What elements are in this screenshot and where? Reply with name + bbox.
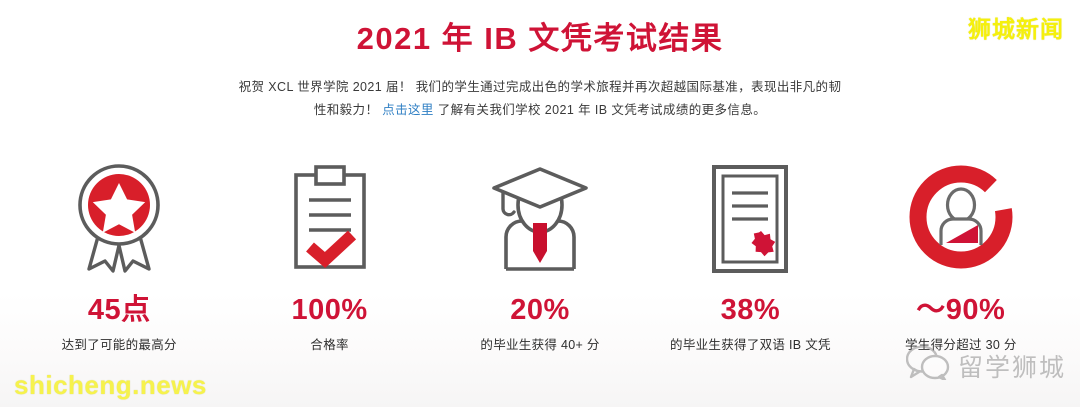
graduate-icon [482, 160, 598, 278]
stat-value: 20% [510, 296, 570, 325]
diploma-certificate-icon [704, 160, 796, 278]
header: 2021 年 IB 文凭考试结果 祝贺 XCL 世界学院 2021 届！ 我们的… [0, 0, 1080, 122]
stat-caption: 的毕业生获得 40+ 分 [480, 334, 599, 353]
intro-text-after: 了解有关我们学校 2021 年 IB 文凭考试成绩的更多信息。 [434, 103, 766, 117]
stat-item-45-points: 45点 达到了可能的最高分 [14, 160, 224, 353]
stat-item-pass-rate: 100% 合格率 [224, 160, 434, 353]
stat-item-40-plus: 20% 的毕业生获得 40+ 分 [435, 160, 645, 353]
stat-item-bilingual-diploma: 38% 的毕业生获得了双语 IB 文凭 [645, 160, 855, 353]
more-info-link[interactable]: 点击这里 [382, 103, 434, 117]
watermark-bottom-left: shicheng.news [14, 370, 207, 401]
stats-row: 45点 达到了可能的最高分 100% 合格率 [0, 160, 1080, 353]
stat-caption: 达到了可能的最高分 [62, 334, 177, 353]
clipboard-check-icon [282, 160, 378, 278]
infographic-page: 2021 年 IB 文凭考试结果 祝贺 XCL 世界学院 2021 届！ 我们的… [0, 0, 1080, 407]
stat-value: 45点 [88, 296, 151, 325]
stat-value: 〜90% [916, 296, 1005, 325]
watermark-label: 留学狮城 [958, 348, 1066, 384]
stat-value: 38% [721, 296, 781, 325]
watermark-top-right: 狮城新闻 [968, 10, 1064, 44]
stat-value: 100% [292, 296, 368, 325]
stat-caption: 的毕业生获得了双语 IB 文凭 [670, 334, 831, 353]
page-title: 2021 年 IB 文凭考试结果 [0, 22, 1080, 56]
award-ribbon-icon [65, 160, 173, 278]
donut-person-icon [905, 160, 1017, 278]
stat-item-above-30: 〜90% 学生得分超过 30 分 [856, 160, 1066, 353]
wechat-icon [906, 346, 950, 385]
watermark-bottom-right: 留学狮城 [906, 346, 1066, 385]
intro-paragraph: 祝贺 XCL 世界学院 2021 届！ 我们的学生通过完成出色的学术旅程并再次超… [235, 76, 845, 122]
stat-caption: 合格率 [310, 334, 348, 353]
